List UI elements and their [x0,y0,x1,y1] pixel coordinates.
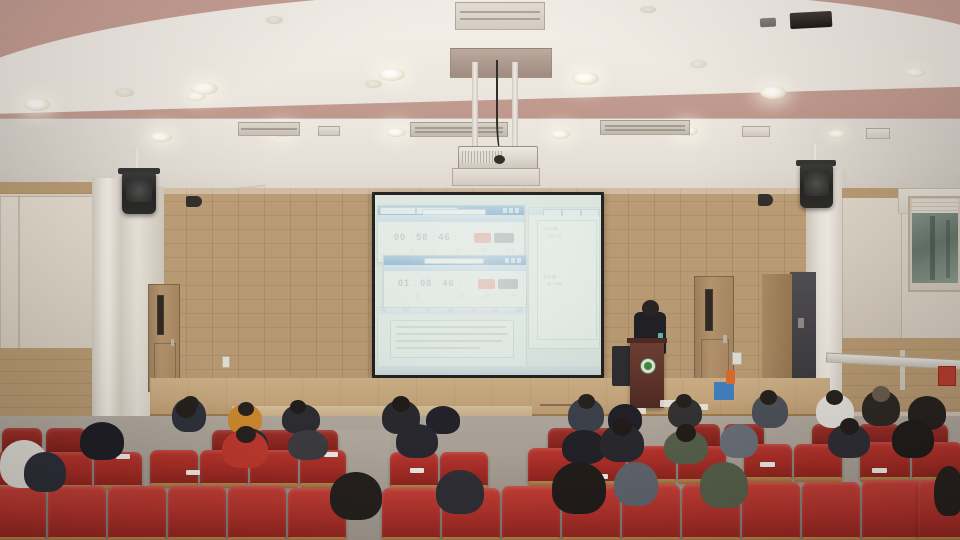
student-f2-head [238,402,254,416]
downlight-5 [378,68,405,81]
downlight-8 [690,60,707,68]
downlight-15 [386,128,406,137]
seat-f13[interactable] [742,482,800,540]
ceiling-vent-a [318,126,340,136]
student-fr6 [614,462,658,506]
orange-cone [726,370,735,384]
side-panel-note-2: · 시험 시간 [545,233,561,239]
window-tree-silhouette-2 [946,220,950,278]
bottom-toolbar-items[interactable]: 파일편집보기삽입서식도구도움말 [381,308,523,314]
student-m7-head [612,418,632,436]
student-f3-head [290,400,306,414]
student-fr5 [552,462,606,514]
downlight-6 [365,80,382,88]
downlight-1 [24,98,50,111]
fire-extinguisher-box [938,366,956,386]
timer2-start-button[interactable] [478,279,495,289]
timer1-hours: 00 [394,232,406,242]
side-panel-tab-2[interactable] [562,209,581,216]
downlight-9 [760,86,786,99]
side-panel-note-1: · 안내 사항 [541,226,557,232]
timer1-minutes: 58 [416,232,428,242]
wooden-podium [630,340,664,408]
downlight-10 [905,68,925,77]
ceiling-vent-top [455,2,545,30]
seat-f3[interactable] [108,486,166,540]
student-m2-head [176,400,196,418]
timer1-field-labels: 시분초시작정지초기화 [378,248,524,252]
projector-lens [494,155,505,164]
window-2-url-bar[interactable] [424,258,484,264]
seat-f2[interactable] [48,486,106,540]
student-f4-head [392,396,410,412]
downlight-2 [115,88,134,97]
light-switch-left[interactable] [222,356,230,368]
student-fr3 [330,472,382,520]
seat-f1[interactable] [0,486,46,540]
camera-right [758,194,773,206]
ceiling-vent-d [600,120,690,135]
downlight-12 [640,6,656,13]
timer2-hours: 01 [398,278,410,288]
seat-f14[interactable] [802,482,860,540]
acoustic-panel-left-1 [0,196,98,358]
student-fr7 [700,462,748,508]
side-panel-tab-3[interactable] [581,209,599,216]
downlight-18 [828,130,846,138]
light-switch-right[interactable] [732,352,742,365]
student-m10-head [840,418,859,435]
student-m4 [288,430,328,460]
camera-left [186,196,202,207]
timer2-field-labels: 시분초시작정지초기화 [384,294,526,298]
projection-screen[interactable]: ····· 00 : 58 : 46 : 시분초시작정지초기화 01 [375,195,601,375]
column-left [92,178,122,428]
name-tag-3 [186,470,200,475]
lecture-hall-photo: ····· 00 : 58 : 46 : 시분초시작정지초기화 01 [0,0,960,540]
timer2-seconds: 46 [443,278,455,288]
student-f10-head [826,390,843,405]
student-f8-head [676,394,692,408]
name-tag-7 [872,468,887,473]
acoustic-panel-right [842,196,902,348]
timer1-sep-2: : [432,233,434,242]
blue-crate [714,382,734,400]
bottom-text-box [390,320,514,358]
timer2-sep-3: : [459,279,461,288]
student-m9 [720,424,758,458]
projector-mount-plate [452,168,540,186]
window-glass [912,213,958,283]
student-f11-head [872,386,890,402]
timer1-start-button[interactable] [474,233,491,243]
window-blind [912,199,958,213]
downlight-11 [266,16,283,24]
door-left[interactable] [148,284,180,392]
ceiling-vent-e [742,126,770,137]
seat-f7[interactable] [382,488,440,540]
student-fr4 [436,470,484,514]
student-red-hoodie-head [236,426,256,443]
downlight-4 [186,92,206,101]
timer2-sep-1: : [414,279,416,288]
doorway-right-open[interactable] [790,272,816,394]
student-fr8 [934,466,960,516]
timer1-sep-1: : [410,233,412,242]
screen-taskbar[interactable] [375,366,601,375]
ceiling-vent-f [866,128,890,139]
timer1-stop-button[interactable] [494,233,514,243]
side-panel-tab-1[interactable] [543,209,562,216]
panel-seam-left [18,196,20,356]
timer1-seconds: 46 [439,232,451,242]
student-f9-head [760,390,777,405]
student-m1 [80,422,124,460]
student-m5 [396,424,438,458]
window-tree-silhouette [930,216,935,280]
timer-window-2[interactable]: 01 : 08 : 46 : 시분초시작정지초기화 [383,255,527,309]
window-2-tab-strip [384,265,526,271]
podium-emblem [640,358,656,374]
podium-top-surface [627,338,667,343]
timer2-sep-2: : [436,279,438,288]
window-2-controls[interactable] [505,258,523,263]
ceiling-vent-b [238,122,300,136]
door-jamb-right [762,274,792,394]
downlight-16 [550,130,570,139]
screen-bottom-panel[interactable]: 파일편집보기삽입서식도구도움말 [377,307,527,367]
seat-m4[interactable] [150,450,198,486]
side-panel-note-4: · 참고 자료 [545,281,561,287]
timer2-minutes: 08 [420,278,432,288]
seat-f5[interactable] [228,486,286,540]
projector-cable [496,60,512,156]
projector-lift-shaft-right [512,62,518,154]
window-1-tab-1[interactable] [380,207,416,214]
seat-f4[interactable] [168,486,226,540]
speaker-right [800,164,833,208]
name-tag-4 [410,468,424,473]
presenter-head [642,300,659,316]
seat-f15[interactable] [862,480,922,540]
student-m8-head [676,424,696,442]
window-1-breadcrumb: ····· [382,225,387,229]
wood-wainscot-left [0,348,96,426]
side-panel-note-3: · 유의사항 [541,274,556,280]
student-f6-head [578,394,595,409]
student-fr2 [24,452,66,492]
window-1-url-bar[interactable] [422,209,486,215]
ceiling-vent-c [410,122,508,137]
window-1-tab-strip [378,215,524,222]
doorway-fixture [798,318,804,328]
wood-trim-left-top [0,182,100,194]
projector-lift-shaft-left [472,62,478,154]
timer1-sep-3: : [455,233,457,242]
student-m11 [892,420,934,458]
name-tag-6 [760,462,775,467]
ceiling-opening-small [760,18,776,28]
downlight-13 [150,132,172,142]
speaker-left [122,172,156,214]
ceiling-opening [790,11,833,29]
timer2-stop-button[interactable] [498,279,518,289]
window-1-controls[interactable] [503,208,521,213]
downlight-7 [572,72,599,85]
ceiling-seam [0,118,960,119]
screen-side-panel[interactable]: · 안내 사항 · 시험 시간 · 유의사항 · 참고 자료 [528,207,600,349]
